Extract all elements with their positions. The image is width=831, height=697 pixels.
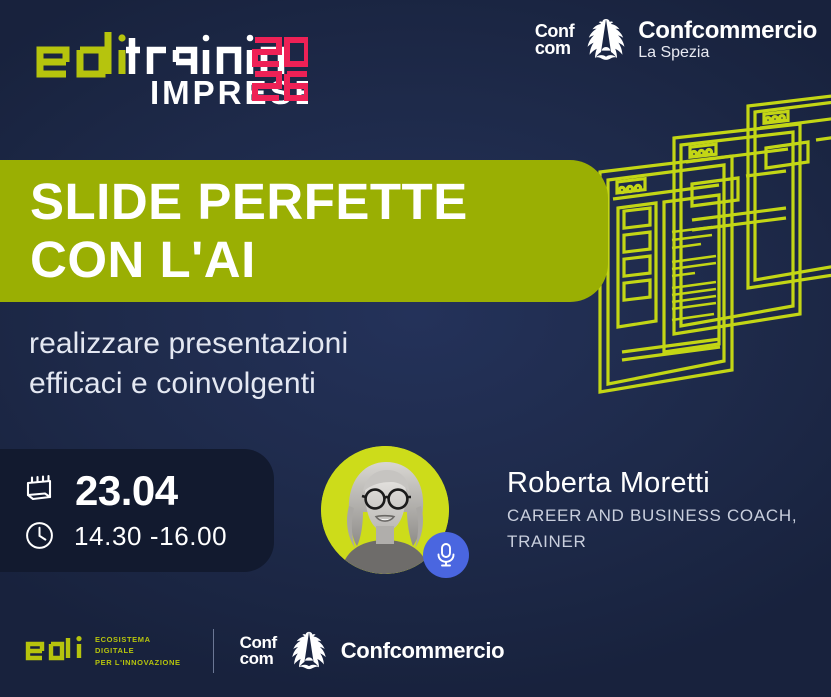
event-promo-poster: IMPRESE Conf com — [0, 0, 831, 697]
footer-divider — [213, 629, 214, 673]
title-line-2: CON L'AI — [30, 231, 608, 289]
subtitle-line-2: efficaci e coinvolgenti — [29, 364, 549, 404]
confcommercio-names: Confcommercio La Spezia — [638, 18, 817, 62]
edi-tagline-line-1: ECOSISTEMA — [95, 634, 181, 646]
edi-mark-icon — [24, 634, 86, 668]
event-time: 14.30 -16.00 — [74, 523, 227, 549]
stacked-browser-windows-illustration — [600, 88, 831, 438]
footer: ECOSISTEMA DIGITALE PER L'INNOVAZIONE Co… — [0, 605, 831, 697]
date-row: 23.04 — [22, 470, 274, 512]
time-row: 14.30 -16.00 — [22, 520, 274, 551]
edi-tagline-line-3: PER L'INNOVAZIONE — [95, 657, 181, 669]
title-line-1: SLIDE PERFETTE — [30, 173, 608, 231]
speaker-text: Roberta Moretti CAREER AND BUSINESS COAC… — [507, 466, 831, 555]
edi-tagline-line-2: DIGITALE — [95, 645, 181, 657]
speaker-block: Roberta Moretti CAREER AND BUSINESS COAC… — [321, 446, 831, 574]
confcom-footer-wordmark: Conf com — [240, 635, 277, 666]
subtitle-line-1: realizzare presentazioni — [29, 324, 549, 364]
clock-icon — [24, 520, 55, 551]
confcom-wordmark: Conf com — [535, 23, 574, 56]
avatar — [321, 446, 449, 574]
confcommercio-name: Confcommercio — [638, 18, 817, 43]
event-date: 23.04 — [75, 470, 178, 512]
schedule-card: 23.04 14.30 -16.00 — [0, 449, 274, 572]
edi-footer-logo: ECOSISTEMA DIGITALE PER L'INNOVAZIONE — [24, 634, 181, 669]
speaker-name: Roberta Moretti — [507, 466, 831, 501]
confcommercio-footer-logo: Conf com Confcommercio — [240, 630, 505, 672]
edi-tagline: ECOSISTEMA DIGITALE PER L'INNOVAZIONE — [95, 634, 181, 669]
eagle-icon — [289, 630, 329, 672]
calendar-icon — [22, 474, 56, 508]
confcommercio-header-logo: Conf com Confcommercio La Spezia — [535, 12, 817, 68]
confcom-footer-line2: com — [240, 651, 277, 667]
confcommercio-location: La Spezia — [638, 43, 817, 62]
microphone-icon — [423, 532, 469, 578]
subtitle: realizzare presentazioni efficaci e coin… — [29, 324, 549, 403]
editraining-logo: IMPRESE — [28, 18, 308, 108]
eagle-icon — [584, 17, 628, 63]
speaker-role: CAREER AND BUSINESS COACH, TRAINER — [507, 503, 831, 554]
title-banner: SLIDE PERFETTE CON L'AI — [0, 160, 608, 302]
confcom-line2: com — [535, 40, 574, 57]
confcommercio-footer-name: Confcommercio — [341, 638, 505, 664]
